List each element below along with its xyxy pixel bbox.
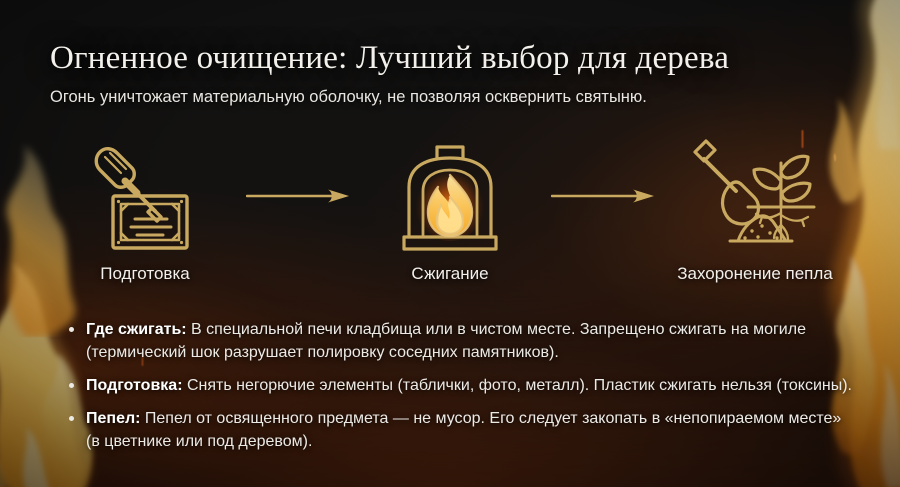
bullet-marker-icon [69,383,74,388]
screwdriver-plaque-icon [91,136,199,256]
bullet-term: Подготовка: [86,377,183,394]
bullet-term: Пепел: [86,410,140,427]
step-preparation-label: Подготовка [100,264,189,284]
process-steps: Подготовка [50,136,850,306]
step-burning-label: Сжигание [411,264,488,284]
bullet-list: Где сжигать: В специальной печи кладбища… [64,318,854,453]
bullet-text: Снять негорючие элементы (таблички, фото… [183,377,852,394]
bullet-text: Пепел от освященного предмета — не мусор… [86,410,841,450]
arrow-right-icon-2 [548,136,658,256]
step-ash-burial: Захоронение пепла [660,136,850,284]
bullet-term: Где сжигать: [86,321,187,338]
bullet-marker-icon [69,416,74,421]
slide-root: Огненное очищение: Лучший выбор для дере… [0,0,900,487]
bullet-item-preparation: Подготовка: Снять негорючие элементы (та… [64,374,854,397]
page-subtitle: Огонь уничтожает материальную оболочку, … [50,87,850,108]
arrow-right-icon-1 [243,136,353,256]
furnace-flame-icon [392,136,508,256]
bullet-marker-icon [69,327,74,332]
bullet-text: В специальной печи кладбища или в чистом… [86,321,806,361]
step-burning: Сжигание [355,136,545,284]
bullet-item-ash: Пепел: Пепел от освященного предмета — н… [64,407,854,453]
bullet-item-where-to-burn: Где сжигать: В специальной печи кладбища… [64,318,854,364]
step-ash-burial-label: Захоронение пепла [677,264,833,284]
shovel-plant-ash-icon [692,136,818,256]
page-title: Огненное очищение: Лучший выбор для дере… [50,38,850,78]
header: Огненное очищение: Лучший выбор для дере… [50,38,850,108]
step-preparation: Подготовка [50,136,240,284]
